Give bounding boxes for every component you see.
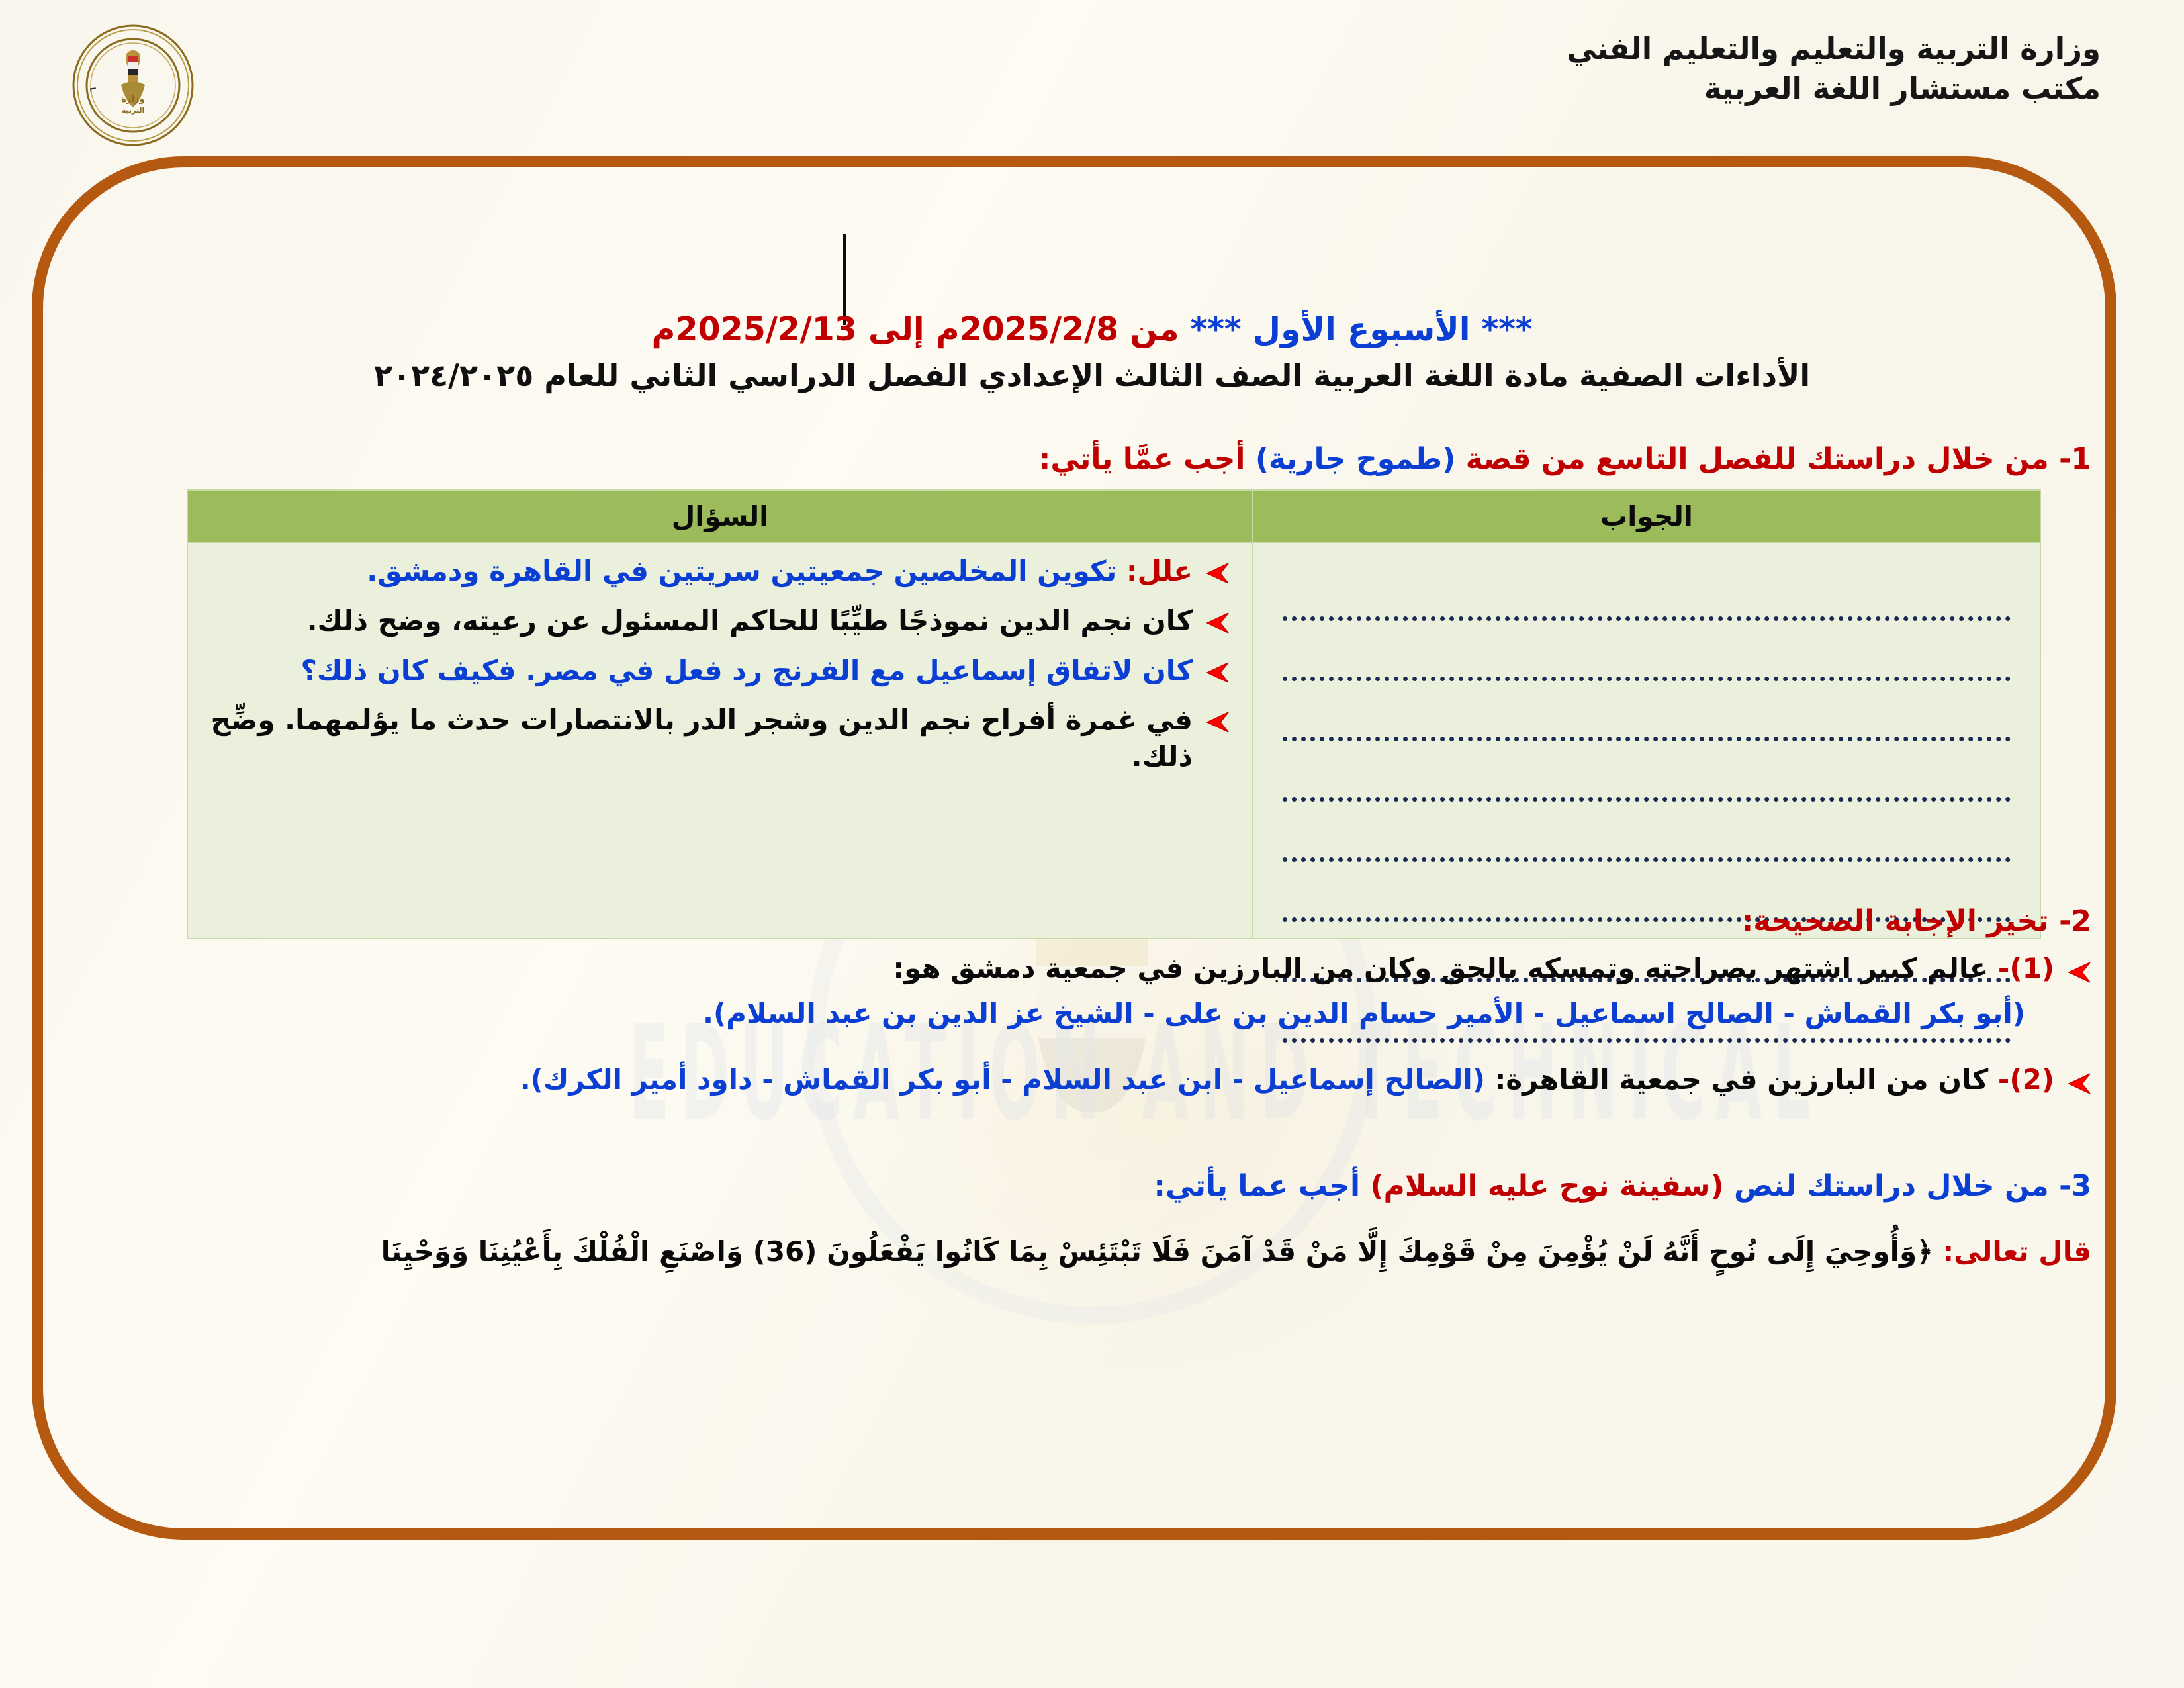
egypt-ministry-seal-icon: وزارة التربية EDUCATION AND TECHNICAL <box>71 24 195 147</box>
answer-dotted-line[interactable] <box>1283 688 2011 741</box>
ministry-header: وزارة التربية والتعليم والتعليم الفني مك… <box>1567 29 2101 109</box>
question-item: علل: تكوين المخلصين جمعيتين سريتين في ال… <box>200 553 1230 590</box>
question-answer-table: الجواب السؤال <box>187 489 2041 939</box>
q1-prompt-after: أجب عمَّا يأتي: <box>1039 442 1255 476</box>
ministry-name-line: وزارة التربية والتعليم والتعليم الفني <box>1567 29 2101 69</box>
question-2-heading: 2- تخير الإجابة الصحيحة: <box>1742 904 2091 938</box>
answer-dotted-line[interactable] <box>1283 567 2011 621</box>
question-2-item-1-text: (1)- عالم كبير اشتهر بصراحته وتمسكه بالح… <box>893 952 2054 984</box>
question-3-prompt: 3- من خلال دراستك لنص (سفينة نوح عليه ال… <box>1154 1169 2091 1203</box>
table-header-row: الجواب السؤال <box>187 490 2040 543</box>
question-1-prompt: 1- من خلال دراستك للفصل التاسع من قصة (ط… <box>1039 442 2091 476</box>
question-cell: علل: تكوين المخلصين جمعيتين سريتين في ال… <box>187 543 1253 939</box>
question-2-item-1-number: (1)- <box>1998 952 2054 984</box>
question-item: كان لاتفاق إسماعيل مع الفرنج رد فعل في م… <box>200 652 1230 689</box>
answer-dotted-line[interactable] <box>1283 628 2011 681</box>
q3-prompt-after: أجب عما يأتي: <box>1154 1169 1370 1203</box>
red-arrow-bullet-icon <box>1203 661 1230 686</box>
question-2-item-1-options: (أبو بكر القماش - الصالح اسماعيل - الأمي… <box>703 997 2025 1029</box>
red-arrow-bullet-icon <box>1203 612 1230 637</box>
red-arrow-bullet-icon <box>2065 961 2091 986</box>
answer-dotted-line[interactable] <box>1283 748 2011 802</box>
subject-subtitle: الأداءات الصفية مادة اللغة العربية الصف … <box>0 354 2184 397</box>
table-body-row: علل: تكوين المخلصين جمعيتين سريتين في ال… <box>187 543 2040 939</box>
red-arrow-bullet-icon <box>1203 711 1230 736</box>
verse-label: قال تعالى: <box>1942 1235 2091 1268</box>
office-name-line: مكتب مستشار اللغة العربية <box>1567 69 2101 109</box>
red-arrow-bullet-icon <box>1203 562 1230 587</box>
answer-dotted-line[interactable] <box>1283 808 2011 862</box>
question-text: كان لاتفاق إسماعيل مع الفرنج رد فعل في م… <box>200 652 1193 689</box>
question-2-item-1: (1)- عالم كبير اشتهر بصراحته وتمسكه بالح… <box>893 952 2091 986</box>
title-block: *** الأسبوع الأول *** من 2025/2/8م إلى 2… <box>0 308 2184 397</box>
week-title-range: من 2025/2/8م إلى 2025/2/13م <box>652 310 1191 348</box>
q3-prompt-before: 3- من خلال دراستك لنص <box>1724 1169 2091 1203</box>
week-title: *** الأسبوع الأول *** من 2025/2/8م إلى 2… <box>0 308 2184 351</box>
question-2-item-2-options: (الصالح إسماعيل - ابن عبد السلام - أبو ب… <box>520 1063 1485 1096</box>
question-list: علل: تكوين المخلصين جمعيتين سريتين في ال… <box>188 543 1252 938</box>
answer-cell[interactable] <box>1253 543 2040 939</box>
question-item: في غمرة أفراح نجم الدين وشجر الدر بالانت… <box>200 702 1230 776</box>
question-2-item-2-stem: كان من البارزين في جمعية القاهرة: <box>1485 1063 1998 1096</box>
question-body: تكوين المخلصين جمعيتين سريتين في القاهرة… <box>367 555 1126 587</box>
question-item: كان نجم الدين نموذجًا طيِّبًا للحاكم الم… <box>200 602 1230 639</box>
q1-prompt-before: 1- من خلال دراستك للفصل التاسع من قصة <box>1455 442 2091 476</box>
question-text: كان نجم الدين نموذجًا طيِّبًا للحاكم الم… <box>200 602 1193 639</box>
question-2-item-2-text: (2)- كان من البارزين في جمعية القاهرة: (… <box>520 1063 2054 1096</box>
column-header-answer: الجواب <box>1253 490 2040 543</box>
answer-lines-area[interactable] <box>1253 543 2040 938</box>
question-2-item-2-number: (2)- <box>1998 1063 2054 1096</box>
red-arrow-bullet-icon <box>2065 1072 2091 1098</box>
question-label: علل: <box>1126 555 1193 587</box>
verse-text: ﴿وَأُوحِيَ إِلَى نُوحٍ أَنَّهُ لَنْ يُؤْ… <box>381 1235 1943 1268</box>
column-header-question: السؤال <box>187 490 1253 543</box>
week-title-prefix: *** الأسبوع الأول *** <box>1191 310 1533 348</box>
quran-verse-line: قال تعالى: ﴿وَأُوحِيَ إِلَى نُوحٍ أَنَّه… <box>93 1235 2091 1268</box>
question-2-item-2: (2)- كان من البارزين في جمعية القاهرة: (… <box>520 1063 2091 1098</box>
q3-text-title: (سفينة نوح عليه السلام) <box>1370 1169 1723 1203</box>
q1-story-title: (طموح جارية) <box>1255 442 1456 476</box>
question-text: علل: تكوين المخلصين جمعيتين سريتين في ال… <box>200 553 1193 590</box>
question-2-item-1-stem: عالم كبير اشتهر بصراحته وتمسكه بالحق وكا… <box>893 952 1998 984</box>
question-text: في غمرة أفراح نجم الدين وشجر الدر بالانت… <box>200 702 1193 776</box>
svg-text:التربية: التربية <box>122 106 145 115</box>
svg-text:وزارة: وزارة <box>121 95 144 105</box>
